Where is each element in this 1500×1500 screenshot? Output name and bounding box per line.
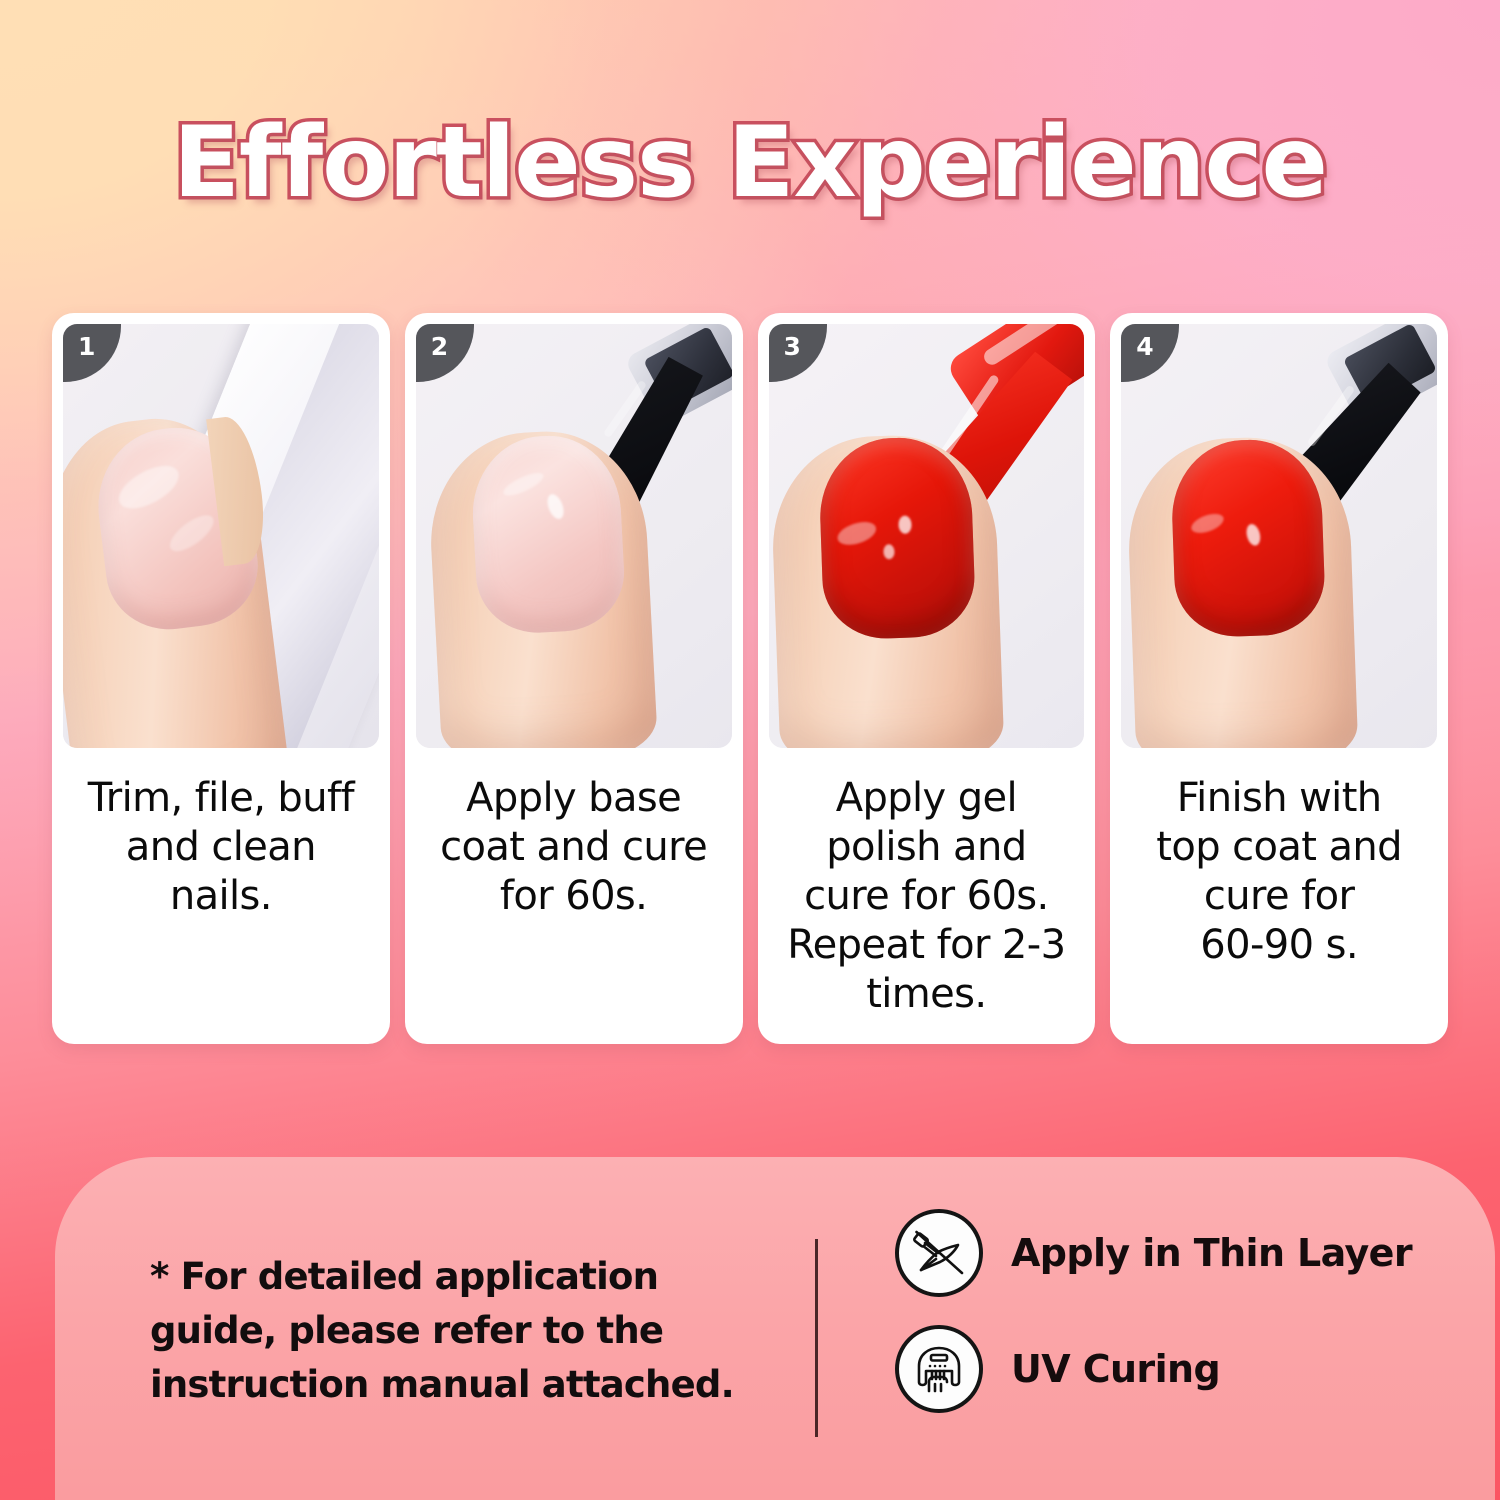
photo-artwork-bare-nail xyxy=(63,324,379,748)
step-card-1: 1 Trim, file, buff and clean nails. xyxy=(52,313,390,1044)
feature-uv-curing: UV Curing xyxy=(895,1325,1412,1413)
page-title-container: Effortless Experience xyxy=(0,112,1500,215)
step-card-2: 2 Apply base coat and cure for 60s. xyxy=(405,313,743,1044)
step-card-3: 3 Apply gel polish and cure for 60s. Rep… xyxy=(758,313,1096,1044)
footer-features: Apply in Thin Layer xyxy=(895,1209,1412,1413)
footer-panel: * For detailed application guide, please… xyxy=(55,1157,1495,1500)
photo-artwork-base-coat xyxy=(416,324,732,748)
thin-layer-brush-icon xyxy=(895,1209,983,1297)
feature-apply-thin-layer: Apply in Thin Layer xyxy=(895,1209,1412,1297)
uv-lamp-icon xyxy=(895,1325,983,1413)
step-photo-4: 4 xyxy=(1121,324,1437,748)
step-caption-1: Trim, file, buff and clean nails. xyxy=(74,774,368,921)
footer-note: * For detailed application guide, please… xyxy=(150,1250,810,1412)
step-photo-3: 3 xyxy=(769,324,1085,748)
page-title: Effortless Experience xyxy=(173,112,1327,215)
feature-label-thin-layer: Apply in Thin Layer xyxy=(1011,1231,1412,1275)
step-photo-1: 1 xyxy=(63,324,379,748)
photo-artwork-top-coat xyxy=(1121,324,1437,748)
infographic-page: Effortless Experience 1 Trim, xyxy=(0,0,1500,1500)
feature-label-uv-curing: UV Curing xyxy=(1011,1347,1220,1391)
step-card-4: 4 Finish with top coat and cure for 60-9… xyxy=(1110,313,1448,1044)
photo-artwork-gel-polish xyxy=(769,324,1085,748)
step-photo-2: 2 xyxy=(416,324,732,748)
step-caption-3: Apply gel polish and cure for 60s. Repea… xyxy=(773,774,1079,1019)
footer-divider xyxy=(815,1239,818,1437)
step-caption-4: Finish with top coat and cure for 60-90 … xyxy=(1142,774,1416,970)
steps-row: 1 Trim, file, buff and clean nails. xyxy=(52,313,1448,1044)
step-caption-2: Apply base coat and cure for 60s. xyxy=(426,774,721,921)
